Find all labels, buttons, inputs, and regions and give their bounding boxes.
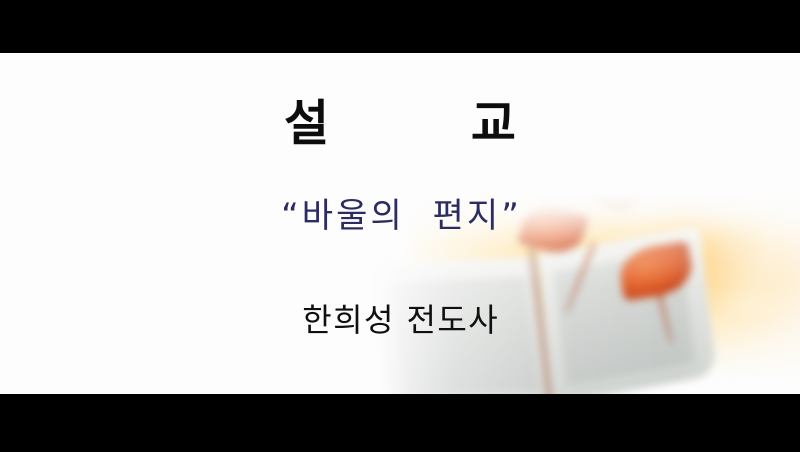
video-frame: 설 교 “바울의 편지” 한희성 전도사 [0, 0, 800, 452]
slide-speaker-name: 한희성 전도사 [0, 303, 800, 339]
slide-subtitle: “바울의 편지” [0, 197, 800, 235]
slide-title: 설 교 [0, 99, 800, 150]
letterbox-bar-top [0, 0, 800, 53]
letterbox-bar-bottom [0, 394, 800, 452]
slide-text-stack: 설 교 “바울의 편지” 한희성 전도사 [0, 53, 800, 394]
presentation-slide: 설 교 “바울의 편지” 한희성 전도사 [0, 53, 800, 394]
